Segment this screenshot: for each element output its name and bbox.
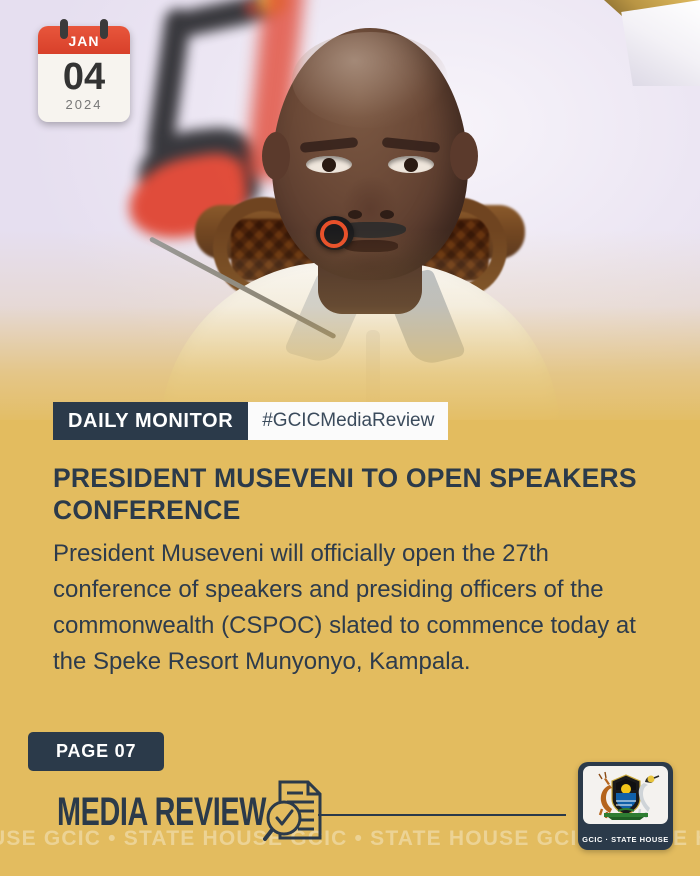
article-body: President Museveni will officially open … xyxy=(53,536,653,680)
page-number-badge: PAGE 07 xyxy=(28,732,164,771)
uganda-coat-of-arms-icon xyxy=(583,766,668,824)
photo-gradient-fade xyxy=(0,230,700,420)
page-curl-corner xyxy=(604,0,700,86)
media-review-title: MEDIA REVIEW xyxy=(57,790,266,835)
media-review-card: JAN 04 2024 GCIC • STATE HOUSE GCIC • ST… xyxy=(0,0,700,876)
date-calendar-icon: JAN 04 2024 xyxy=(38,26,130,122)
calendar-day: 04 xyxy=(38,56,130,98)
document-magnifier-icon xyxy=(262,778,326,849)
gcic-state-house-logo: GCIC · STATE HOUSE xyxy=(578,762,673,850)
footer-rule xyxy=(318,814,566,816)
source-row: DAILY MONITOR #GCICMediaReview xyxy=(53,402,448,440)
logo-caption: GCIC · STATE HOUSE xyxy=(578,835,673,844)
calendar-month: JAN xyxy=(38,26,130,54)
hashtag-badge: #GCICMediaReview xyxy=(248,402,448,440)
article-headline: PRESIDENT MUSEVENI TO OPEN SPEAKERS CONF… xyxy=(53,462,653,526)
publication-badge: DAILY MONITOR xyxy=(53,402,248,440)
calendar-year: 2024 xyxy=(38,97,130,112)
